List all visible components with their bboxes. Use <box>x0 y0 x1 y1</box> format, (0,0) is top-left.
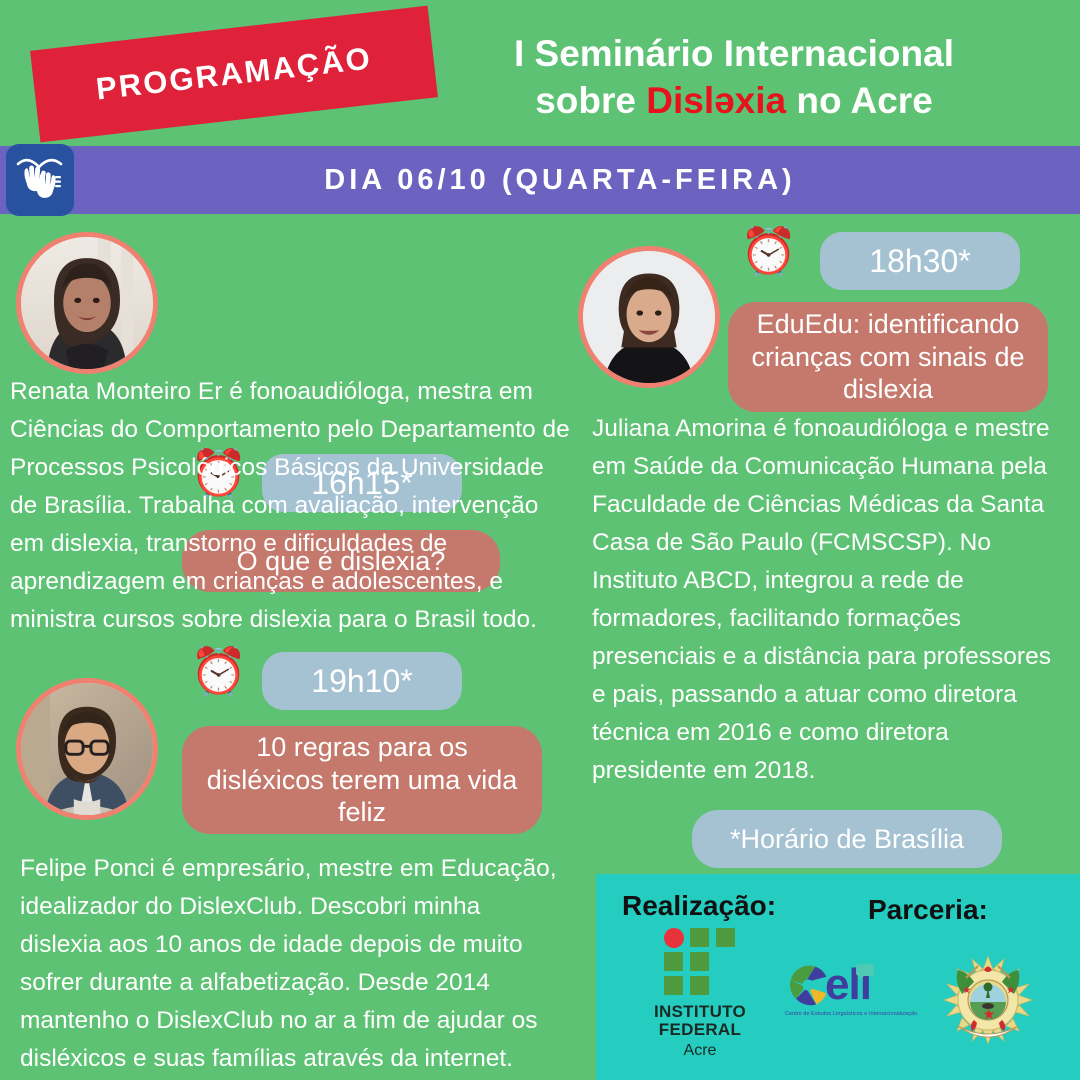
date-band: DIA 06/10 (QUARTA-FEIRA) <box>0 146 1080 214</box>
brasilia-time-note: *Horário de Brasília <box>692 810 1002 868</box>
parceria-label: Parceria: <box>868 894 988 926</box>
celi-subtitle: Centro de Estudos Linguísticos e Interna… <box>785 1011 917 1017</box>
if-wordmark-line1: INSTITUTO <box>640 1003 760 1021</box>
title-line-2: sobre Disləxia no Acre <box>434 77 1034 124</box>
sign-language-icon <box>6 144 74 216</box>
acre-coat-of-arms <box>940 952 1036 1056</box>
if-wordmark-sub: Acre <box>640 1042 760 1060</box>
programacao-banner-label: PROGRAMAÇÃO <box>94 40 374 107</box>
poster-header: PROGRAMAÇÃO I Seminário Internacional so… <box>0 0 1080 140</box>
brasilia-time-note-label: *Horário de Brasília <box>730 824 964 855</box>
session-2-topic: EduEdu: identificando crianças com sinai… <box>744 308 1032 407</box>
programacao-banner: PROGRAMAÇÃO <box>30 6 438 143</box>
title-line-1: I Seminário Internacional <box>434 30 1034 77</box>
session-3-bio: Felipe Ponci é empresário, mestre em Edu… <box>20 850 568 1078</box>
session-2-time: 18h30* <box>869 243 970 280</box>
title-highlight-dislexia: Disləxia <box>646 80 786 121</box>
session-2-time-pill: 18h30* <box>820 232 1020 290</box>
celi-mark-row: eli <box>785 962 917 1008</box>
session-2-topic-pill: EduEdu: identificando crianças com sinai… <box>728 302 1048 412</box>
speaker-photo-renata <box>16 232 158 374</box>
celi-chat-bubble-icon <box>855 963 875 981</box>
if-mark-icon <box>664 928 736 996</box>
session-1-bio: Renata Monteiro Er é fonoaudióloga, mest… <box>10 373 570 639</box>
instituto-federal-logo: INSTITUTO FEDERAL Acre <box>640 928 760 1060</box>
if-wordmark-line2: FEDERAL <box>640 1021 760 1039</box>
session-3-time: 19h10* <box>311 663 412 700</box>
alarm-clock-icon: ⏰ <box>740 228 797 274</box>
realizacao-label: Realização: <box>622 890 776 922</box>
speaker-photo-felipe <box>16 678 158 820</box>
title-prefix: sobre <box>535 80 646 121</box>
left-column: ⏰ 16h15* O que é dislexia? Renata Montei… <box>0 218 580 1080</box>
session-3-topic: 10 regras para os disléxicos terem uma v… <box>198 731 526 830</box>
session-3-topic-pill: 10 regras para os disléxicos terem uma v… <box>182 726 542 834</box>
alarm-clock-icon: ⏰ <box>190 648 247 694</box>
celi-logo: eli Centro de Estudos Linguísticos e Int… <box>785 962 917 1017</box>
date-band-label: DIA 06/10 (QUARTA-FEIRA) <box>284 164 795 197</box>
sponsor-labels: Realização: Parceria: <box>596 890 1080 932</box>
session-2-bio: Juliana Amorina é fonoaudióloga e mestre… <box>592 410 1062 790</box>
poster-title: I Seminário Internacional sobre Disləxia… <box>434 30 1034 125</box>
event-poster: PROGRAMAÇÃO I Seminário Internacional so… <box>0 0 1080 1080</box>
session-3-time-pill: 19h10* <box>262 652 462 710</box>
title-suffix: no Acre <box>786 80 933 121</box>
speaker-photo-juliana <box>578 246 720 388</box>
